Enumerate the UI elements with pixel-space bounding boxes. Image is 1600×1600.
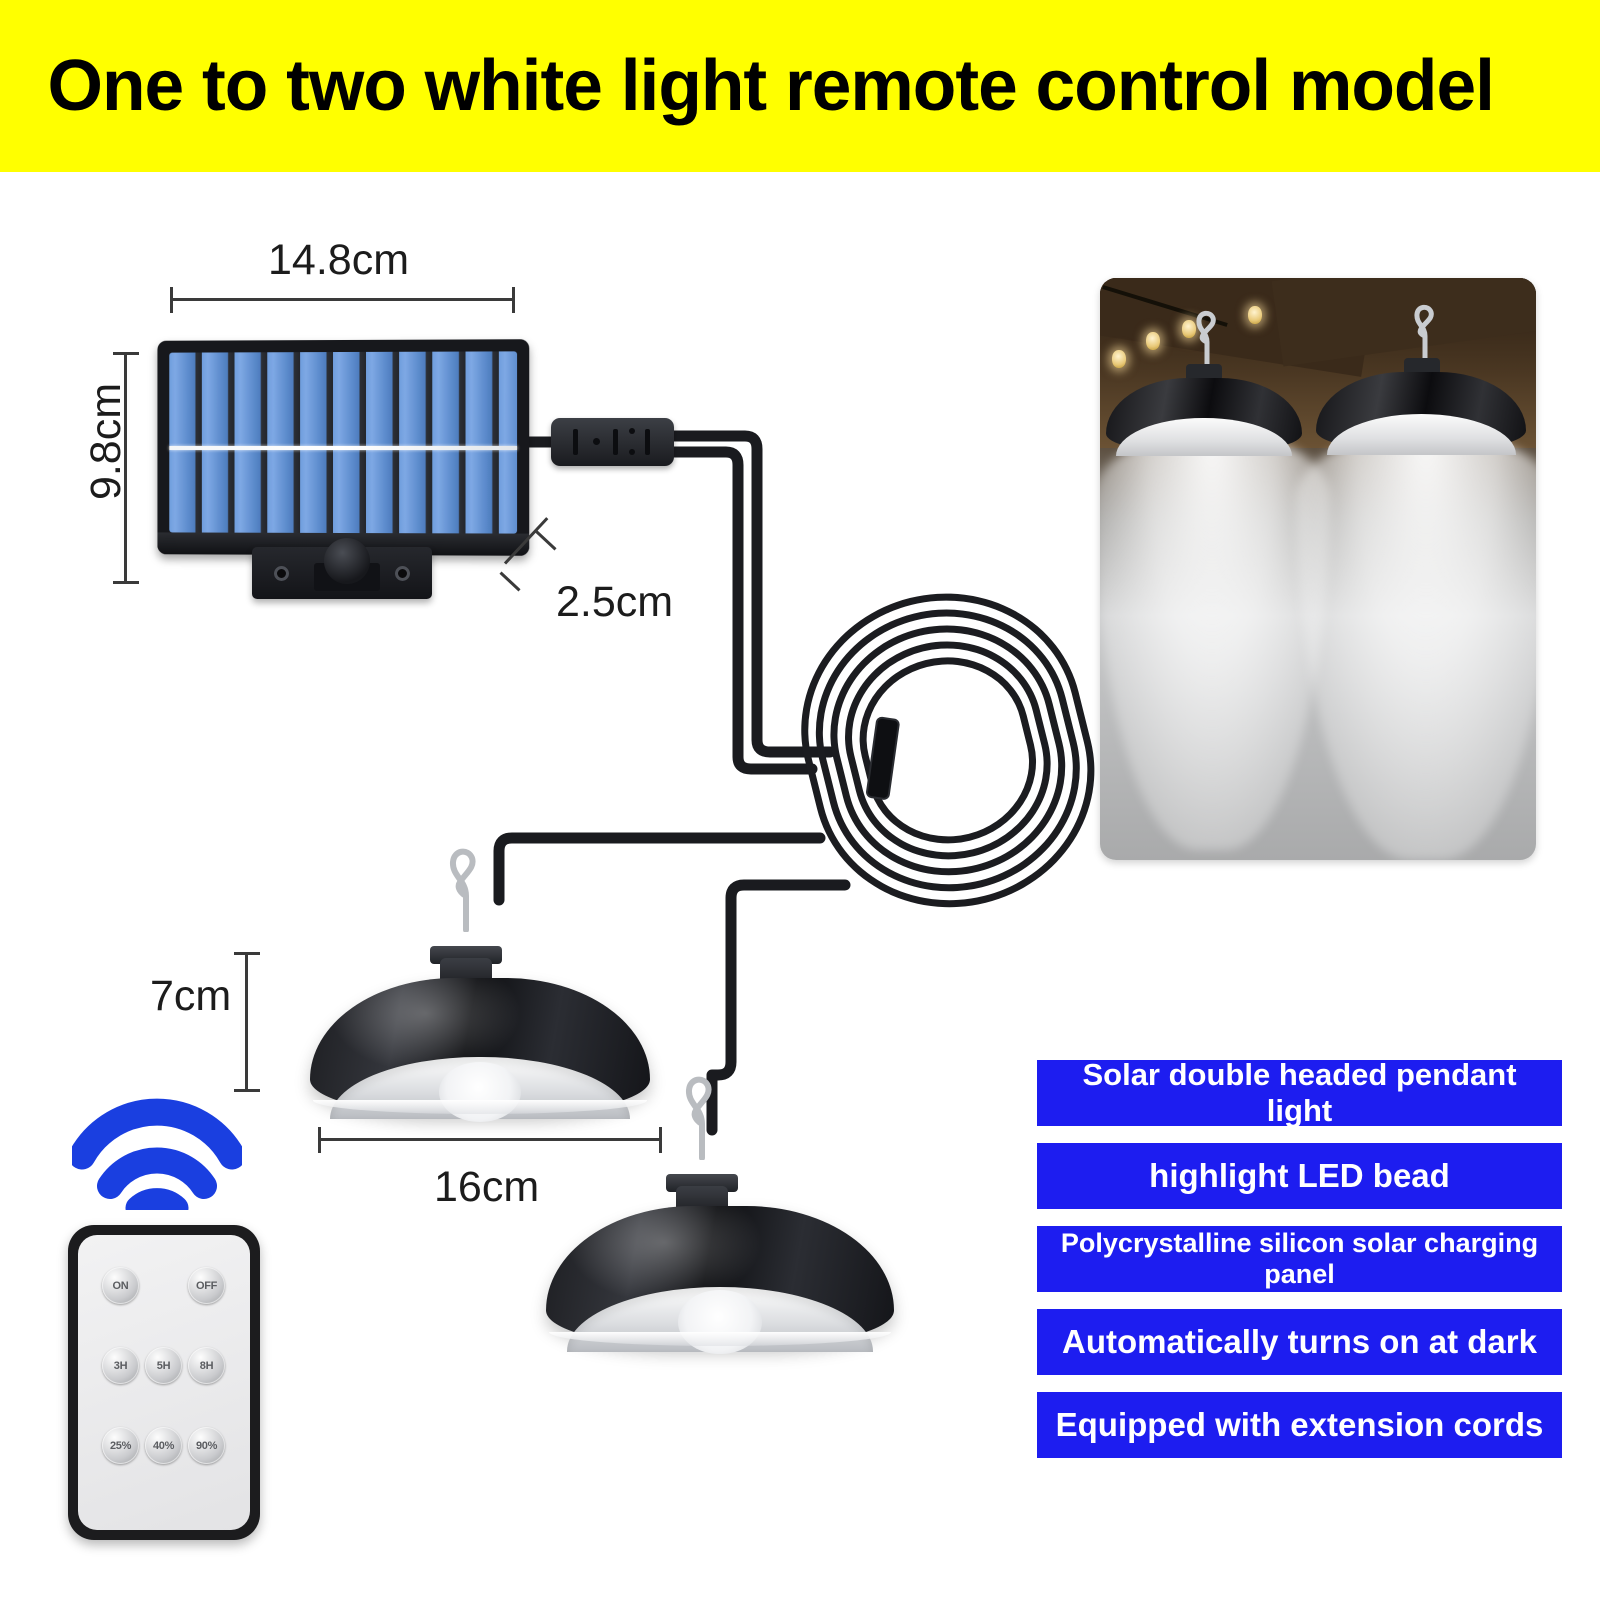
inline-junction-box <box>551 418 674 466</box>
bracket-screw-hole <box>395 566 410 581</box>
product-photo <box>1100 278 1536 860</box>
photo-lamp-reflector <box>1116 418 1292 456</box>
dimension-label-panel-width: 14.8cm <box>268 236 409 285</box>
dimension-label-shade-width: 16cm <box>434 1163 539 1212</box>
remote-button-on[interactable]: ON <box>102 1267 139 1304</box>
remote-button-90pct[interactable]: 90% <box>188 1427 225 1464</box>
solar-cell-array <box>169 351 517 533</box>
junction-vent <box>593 438 600 445</box>
feature-item-2: highlight LED bead <box>1037 1143 1562 1209</box>
dimension-cap-left <box>170 287 173 313</box>
photo-lamp-reflector <box>1327 414 1516 455</box>
bracket-screw-hole <box>274 566 289 581</box>
dimension-cap-top <box>113 352 139 355</box>
junction-vent <box>613 429 618 455</box>
photo-lamp-hook-icon <box>1412 300 1438 362</box>
solar-panel-body <box>157 339 529 556</box>
bracket-adjust-knob[interactable] <box>324 538 370 584</box>
remote-control[interactable]: ON OFF 3H 5H 8H 25% 40% 90% <box>68 1225 260 1540</box>
lamp-shade <box>546 1206 894 1346</box>
remote-button-40pct[interactable]: 40% <box>145 1427 182 1464</box>
pendant-lamp-upper <box>300 860 660 1120</box>
feature-item-5: Equipped with extension cords <box>1037 1392 1562 1458</box>
dimension-label-panel-depth: 2.5cm <box>556 578 673 627</box>
photo-pendant-lamp <box>1106 312 1302 452</box>
dimension-cap-right <box>512 287 515 313</box>
wifi-signal-icon <box>72 1092 242 1210</box>
dimension-line-panel-height <box>124 352 127 584</box>
photo-lamp-hook-icon <box>1194 306 1220 368</box>
dimension-label-shade-height: 7cm <box>150 972 231 1021</box>
lamp-hook-icon <box>682 1068 722 1160</box>
solar-panel <box>156 340 528 555</box>
feature-list: Solar double headed pendant light highli… <box>1037 1060 1562 1475</box>
junction-vent <box>573 429 578 455</box>
junction-vent <box>645 429 650 455</box>
remote-button-8h[interactable]: 8H <box>188 1347 225 1384</box>
dimension-line-panel-width <box>170 298 515 301</box>
mounting-bracket <box>252 547 432 599</box>
solar-busbar <box>169 445 517 449</box>
remote-button-5h[interactable]: 5H <box>145 1347 182 1384</box>
photo-pendant-lamp <box>1316 306 1526 452</box>
photo-lamp-shade <box>1106 378 1302 452</box>
light-beam <box>1296 430 1536 860</box>
dimension-cap-7cm-top <box>234 952 260 955</box>
dimension-line-shade-height <box>245 952 248 1092</box>
remote-button-25pct[interactable]: 25% <box>102 1427 139 1464</box>
pendant-lamp-lower <box>536 1090 896 1350</box>
feature-item-3: Polycrystalline silicon solar charging p… <box>1037 1226 1562 1292</box>
feature-item-4: Automatically turns on at dark <box>1037 1309 1562 1375</box>
photo-lamp-shade <box>1316 372 1526 450</box>
lamp-hook-icon <box>446 840 486 932</box>
junction-vent <box>629 428 635 434</box>
feature-item-1: Solar double headed pendant light <box>1037 1060 1562 1126</box>
remote-button-off[interactable]: OFF <box>188 1267 225 1304</box>
dimension-cap-bottom <box>113 581 139 584</box>
remote-button-3h[interactable]: 3H <box>102 1347 139 1384</box>
junction-vent <box>629 449 635 455</box>
dimension-cap-16cm-left <box>318 1127 321 1153</box>
remote-faceplate: ON OFF 3H 5H 8H 25% 40% 90% <box>78 1235 250 1530</box>
